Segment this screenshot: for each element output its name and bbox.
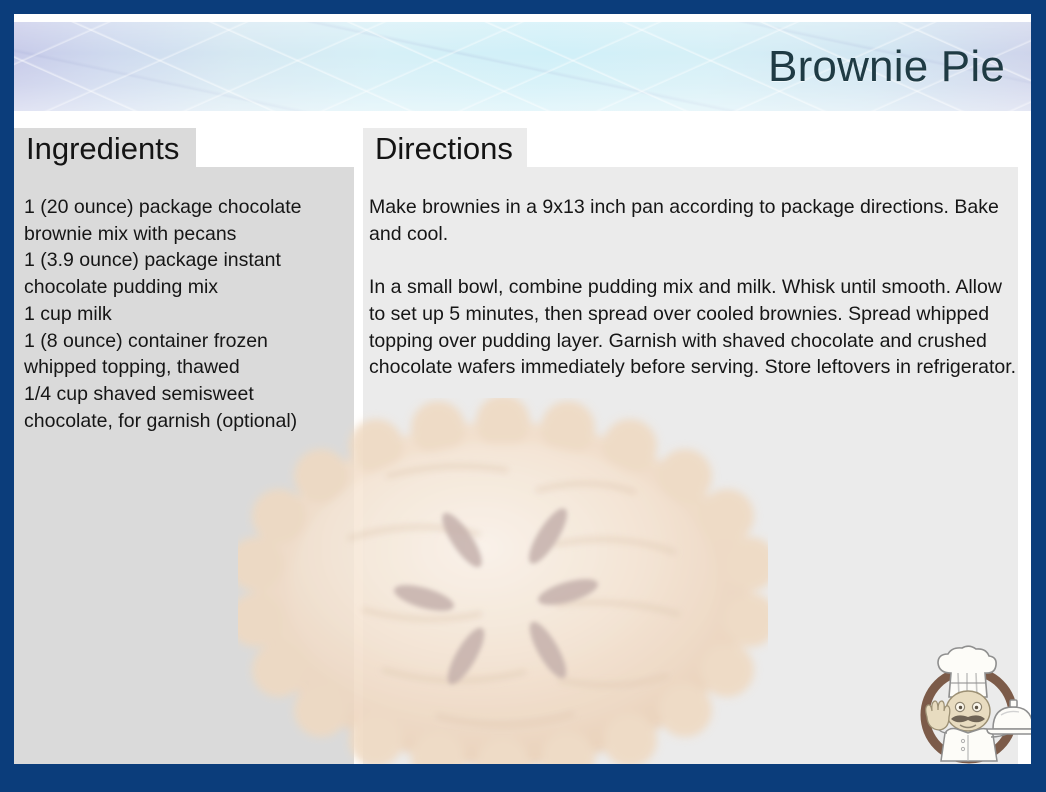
directions-body: Make brownies in a 9x13 inch pan accordi… — [369, 194, 1017, 381]
frame-border-top — [0, 0, 1046, 14]
directions-heading-label: Directions — [363, 133, 513, 164]
frame-border-right — [1031, 0, 1046, 792]
ingredients-heading-tab: Ingredients — [14, 128, 196, 169]
recipe-card: Brownie Pie Ingredients 1 (20 ounce) pac… — [0, 0, 1046, 792]
frame-border-left — [0, 0, 14, 792]
page-title: Brownie Pie — [768, 42, 1005, 92]
header-banner: Brownie Pie — [14, 22, 1031, 111]
frame-border-bottom — [0, 764, 1046, 792]
ingredients-list: 1 (20 ounce) package chocolate brownie m… — [24, 194, 342, 434]
ingredients-heading-label: Ingredients — [14, 133, 179, 164]
directions-heading-tab: Directions — [363, 128, 527, 169]
